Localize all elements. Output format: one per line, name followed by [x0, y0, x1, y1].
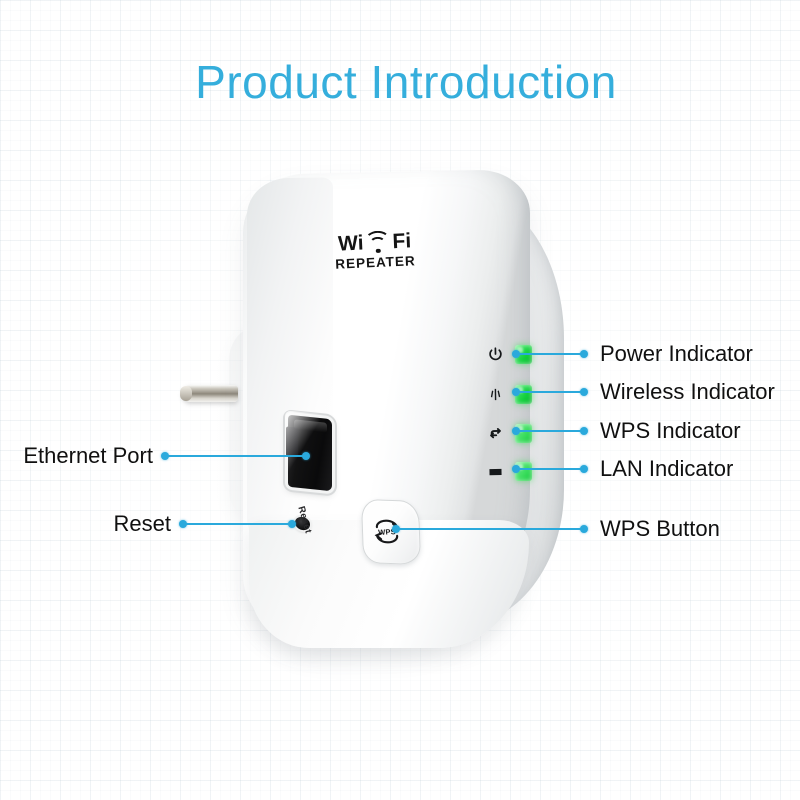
label-wps-button: WPS Button [600, 518, 720, 540]
brand-fi-text: Fi [392, 230, 412, 252]
wifi-signal-icon [366, 233, 390, 253]
leader-line-wireless [516, 391, 584, 393]
leader-dot-power-end [580, 350, 588, 358]
wps-button-glyph: WPS [368, 513, 405, 548]
leader-line-ethernet [165, 455, 305, 457]
leader-dot-lan-end [580, 465, 588, 473]
power-icon [487, 346, 504, 363]
plug-prong-tip [180, 386, 192, 401]
led-row-wps [487, 424, 532, 443]
leader-line-reset [183, 523, 291, 525]
leader-line-wps [516, 430, 584, 432]
led-row-wireless [487, 385, 532, 404]
leader-dot-wps-end [580, 427, 588, 435]
leader-line-lan [516, 468, 584, 470]
wps-icon [487, 425, 504, 442]
antenna-icon [487, 386, 504, 403]
leader-dot-wps-button-end [580, 525, 588, 533]
label-lan-indicator: LAN Indicator [600, 458, 733, 480]
led-row-lan [487, 462, 532, 481]
leader-line-power [516, 353, 584, 355]
leader-dot-reset-end [179, 520, 187, 528]
label-wps-indicator: WPS Indicator [600, 420, 741, 442]
brand-wi-text: Wi [338, 233, 364, 255]
label-reset: Reset [8, 513, 171, 535]
device-left-bevel [247, 177, 333, 551]
lan-port-icon [487, 463, 504, 480]
label-ethernet-port: Ethernet Port [8, 445, 153, 467]
page-title: Product Introduction [0, 55, 800, 109]
label-power-indicator: Power Indicator [600, 343, 753, 365]
leader-line-wps-button [396, 528, 584, 530]
leader-dot-ethernet-end [161, 452, 169, 460]
ethernet-port-shine [285, 410, 337, 495]
leader-dot-wireless-end [580, 388, 588, 396]
label-wireless-indicator: Wireless Indicator [600, 381, 775, 403]
brand-print: Wi Fi REPEATER [310, 229, 440, 273]
